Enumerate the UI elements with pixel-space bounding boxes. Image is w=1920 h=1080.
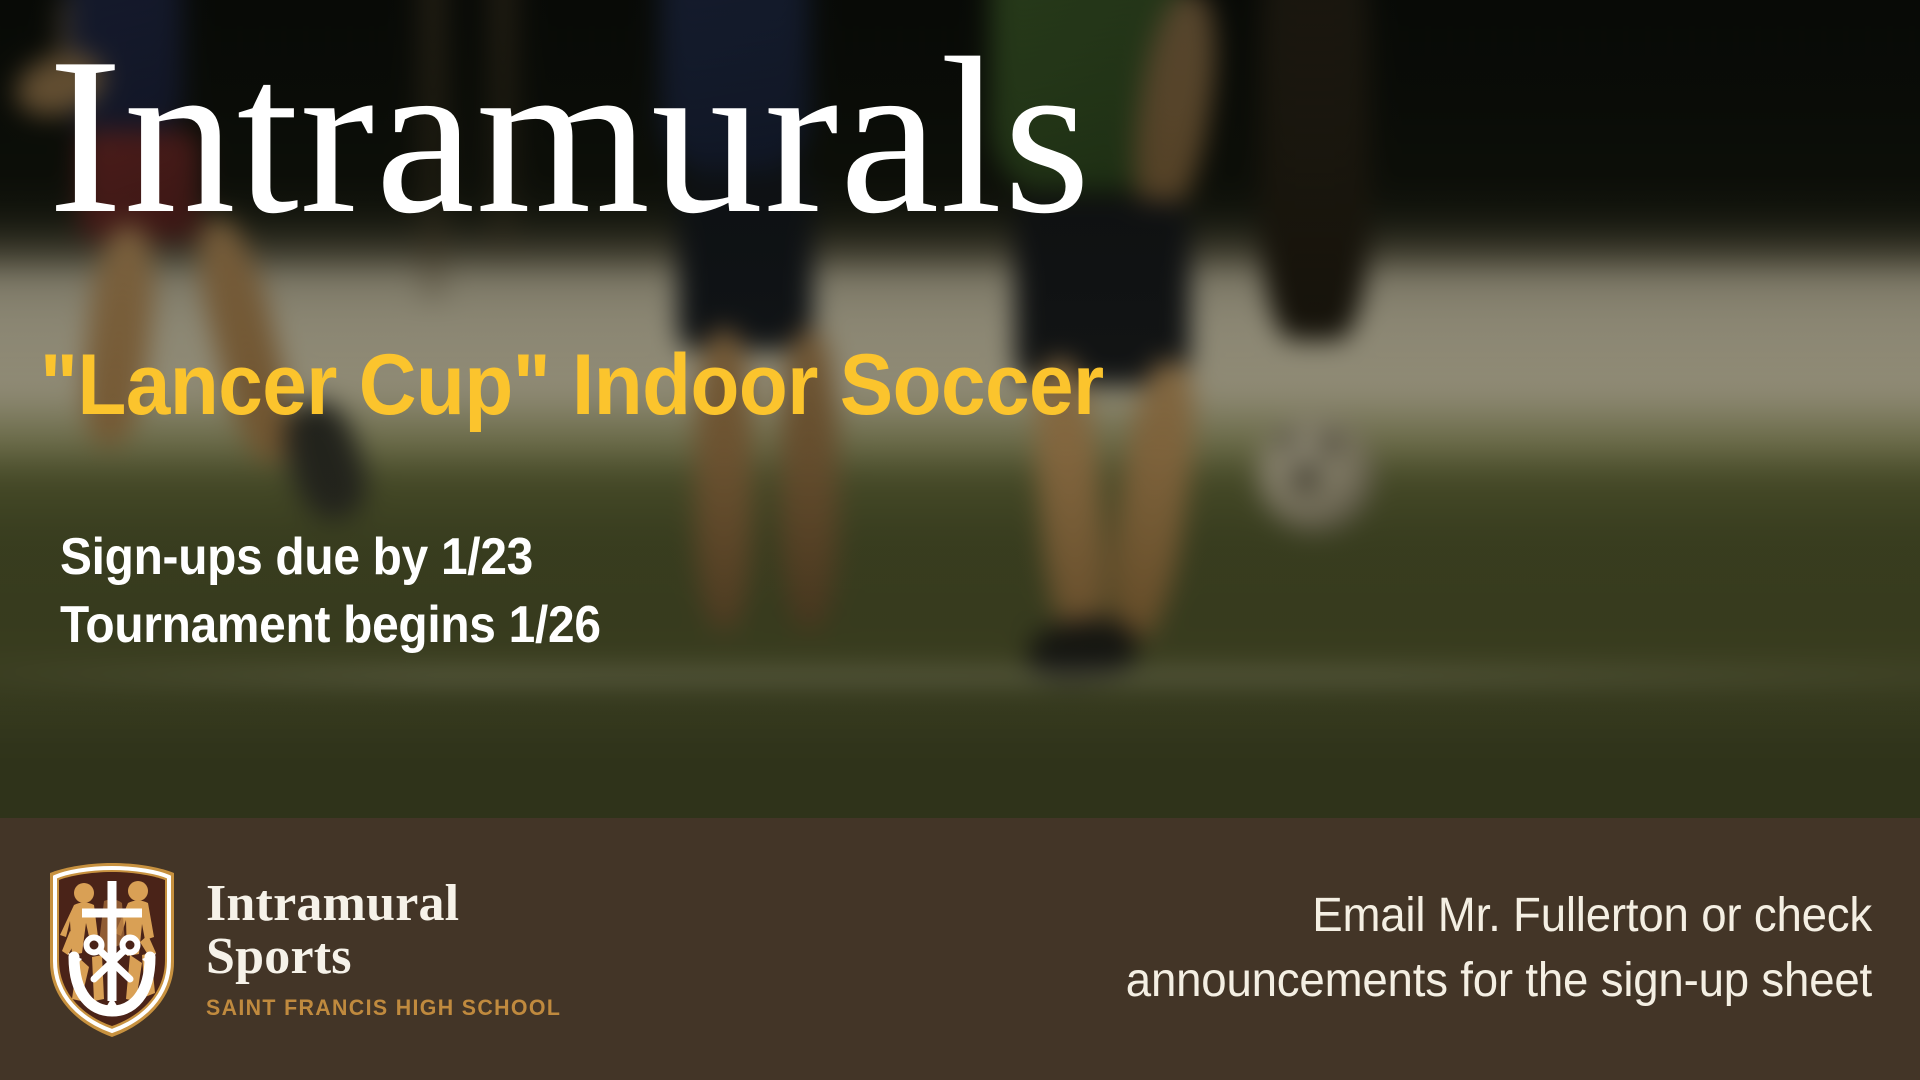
contact-line-2: announcements for the sign-up sheet: [1126, 949, 1872, 1014]
tournament-start-line: Tournament begins 1/26: [60, 592, 601, 660]
brand-text-block: Intramural Sports SAINT FRANCIS HIGH SCH…: [206, 877, 572, 1021]
signup-deadline-line: Sign-ups due by 1/23: [60, 524, 601, 592]
brand-lockup: Intramural Sports SAINT FRANCIS HIGH SCH…: [0, 861, 572, 1037]
contact-instructions: Email Mr. Fullerton or check announcemen…: [1126, 884, 1920, 1014]
event-subtitle: "Lancer Cup" Indoor Soccer: [40, 340, 1104, 430]
brand-name-line-2: Sports: [206, 930, 572, 983]
brand-name-line-1: Intramural: [206, 877, 572, 930]
contact-line-1: Email Mr. Fullerton or check: [1126, 884, 1872, 949]
intramurals-announcement-slide: Intramurals "Lancer Cup" Indoor Soccer S…: [0, 0, 1920, 1080]
brand-school-name: SAINT FRANCIS HIGH SCHOOL: [206, 995, 561, 1021]
footer-bar: Intramural Sports SAINT FRANCIS HIGH SCH…: [0, 818, 1920, 1080]
shield-crest-icon: [44, 861, 180, 1037]
key-dates: Sign-ups due by 1/23 Tournament begins 1…: [60, 524, 601, 659]
page-title: Intramurals: [48, 24, 1092, 248]
